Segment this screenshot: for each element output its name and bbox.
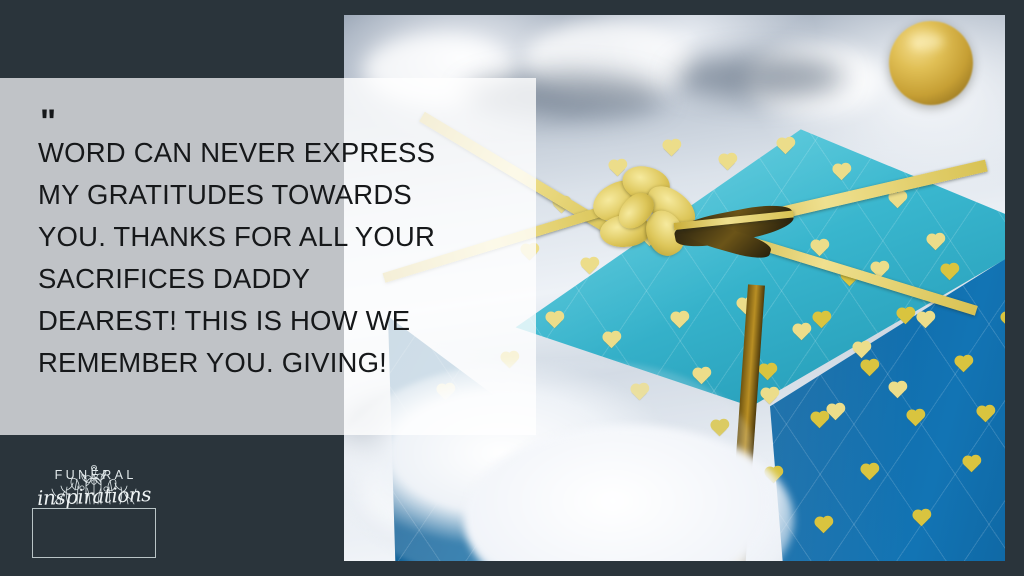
logo-frame — [32, 508, 156, 558]
gold-heart — [582, 259, 598, 275]
gold-heart — [762, 389, 778, 405]
logo-brand-name: FUNERAL — [32, 468, 156, 482]
quote-text: Word can never express my gratitudes tow… — [38, 132, 508, 384]
logo-brand-tagline: inspirations — [32, 482, 157, 510]
gold-heart — [664, 141, 680, 157]
gold-heart — [720, 155, 736, 171]
slide-canvas: " Word can never express my gratitudes t… — [0, 0, 1024, 576]
quote-block: " Word can never express my gratitudes t… — [38, 112, 508, 384]
quote-mark-icon: " — [40, 112, 508, 132]
brand-logo[interactable]: FUNERAL inspirations — [32, 462, 156, 558]
